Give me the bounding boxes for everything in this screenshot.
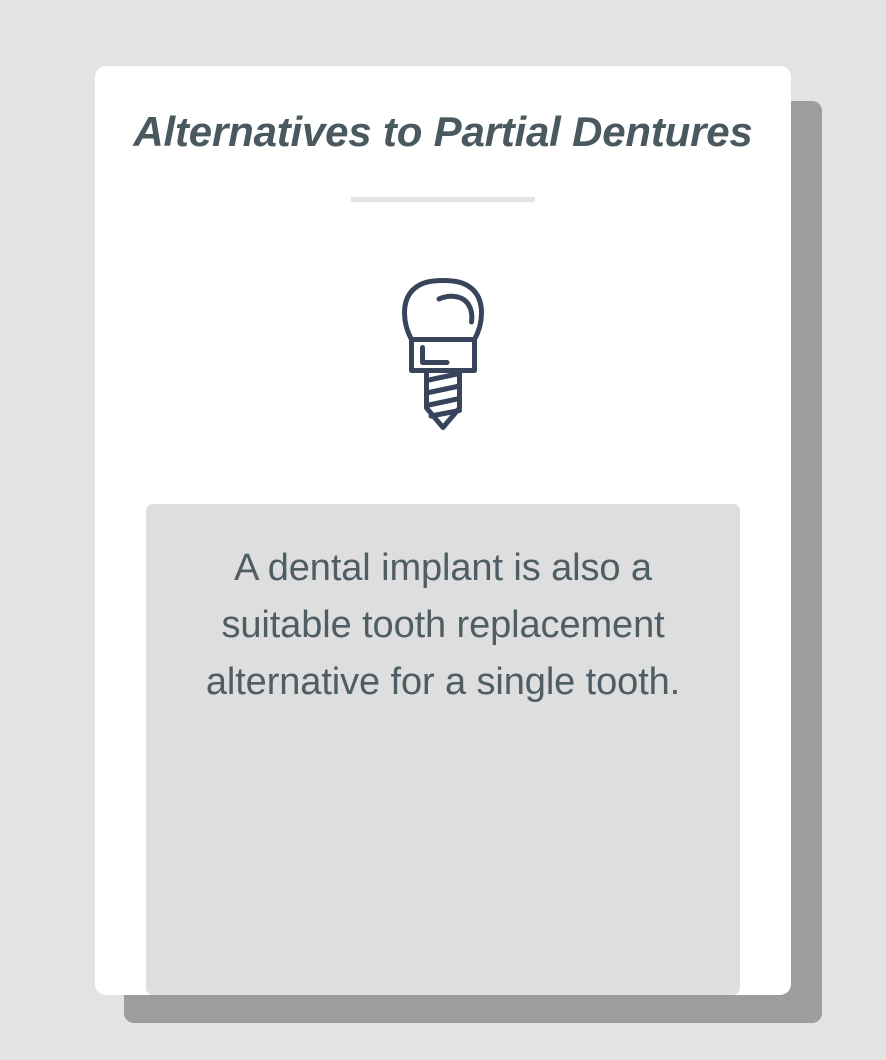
body-text-panel: A dental implant is also a suitable toot… <box>146 504 740 995</box>
slide-canvas: Alternatives to Partial Dentures <box>0 0 886 1060</box>
page-title: Alternatives to Partial Dentures <box>95 108 791 156</box>
title-divider <box>351 197 535 202</box>
dental-implant-glyph <box>400 276 486 432</box>
body-text: A dental implant is also a suitable toot… <box>170 540 716 711</box>
content-card: Alternatives to Partial Dentures <box>95 66 791 995</box>
dental-implant-icon <box>95 272 791 436</box>
